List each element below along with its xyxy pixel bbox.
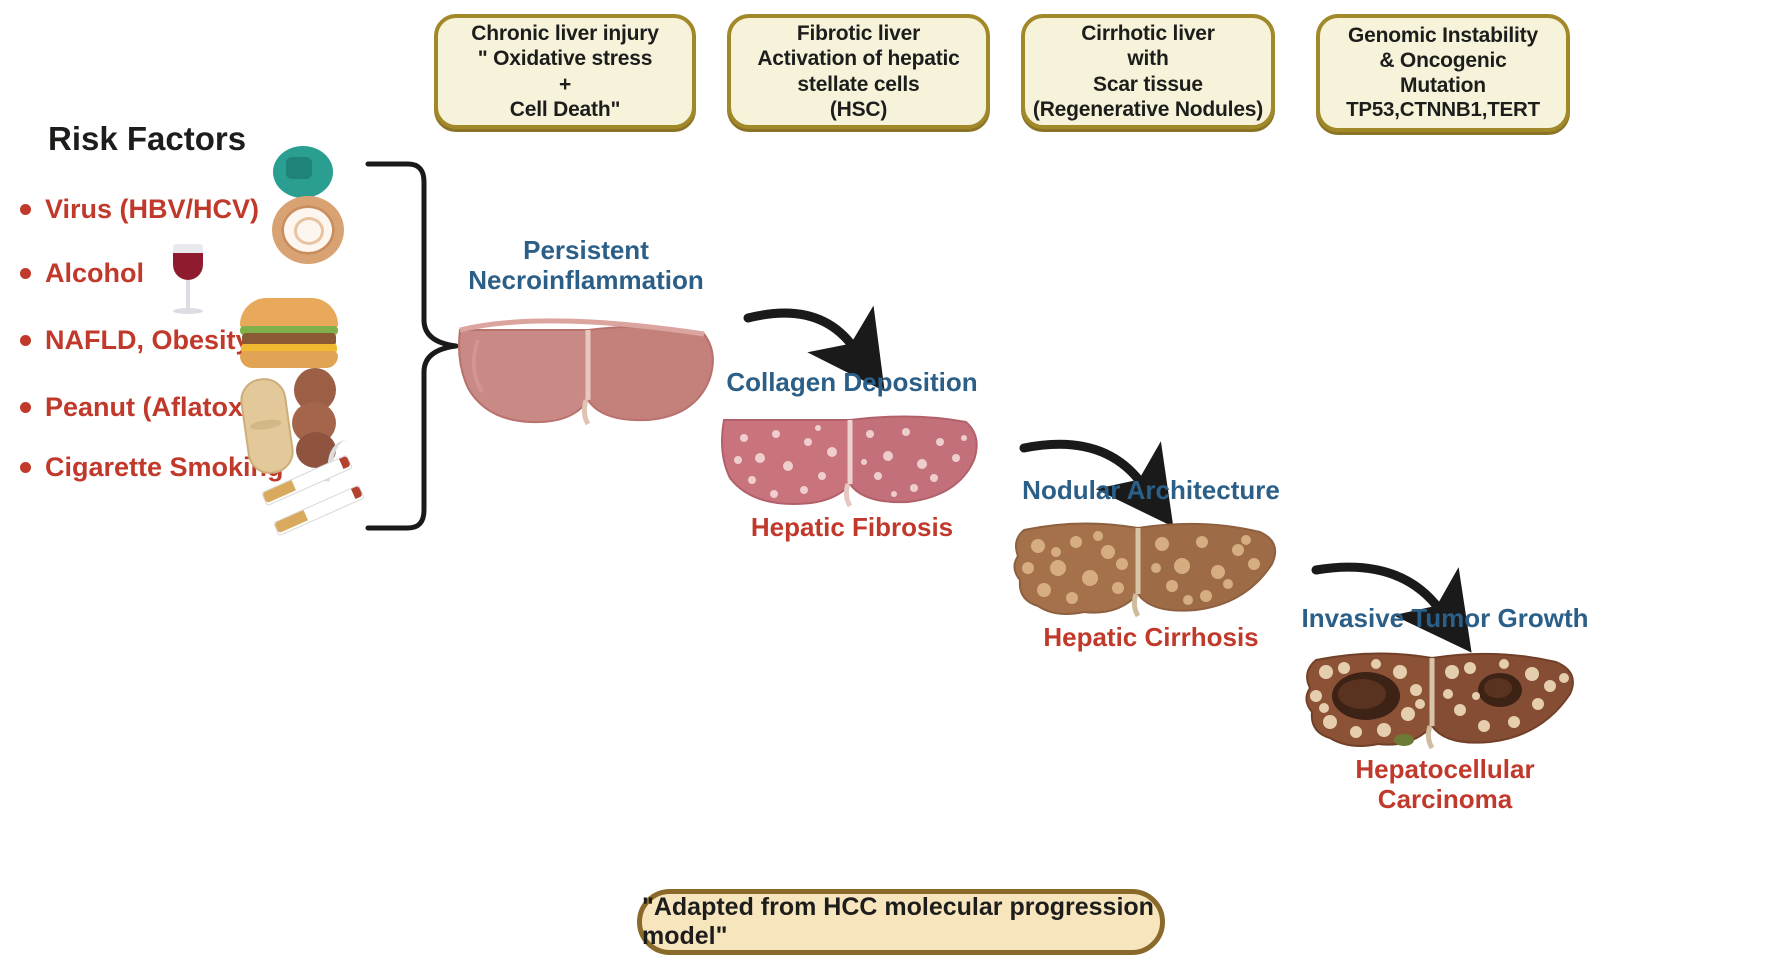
box2-line-2: Activation of hepatic xyxy=(757,46,959,71)
bullet-icon xyxy=(20,268,31,279)
box1-line-3: + xyxy=(471,72,658,97)
stage4-top-label: Invasive Tumor Growth xyxy=(1300,604,1590,634)
box2-line-4: (HSC) xyxy=(757,97,959,122)
stage-box-chronic-liver-injury: Chronic liver injury " Oxidative stress … xyxy=(434,14,696,129)
grouping-brace xyxy=(362,160,462,532)
risk-factors-title: Risk Factors xyxy=(48,120,246,158)
box4-line-4: TP53,CTNNB1,TERT xyxy=(1346,98,1540,123)
tumor-liver-icon xyxy=(1300,634,1590,750)
risk-factor-item-virus: Virus (HBV/HCV) xyxy=(20,194,259,225)
box4-line-1: Genomic Instability xyxy=(1346,23,1540,48)
cirrhotic-liver-icon xyxy=(1010,506,1292,618)
risk-factor-item-nafld-obesity: NAFLD, Obesity xyxy=(20,325,251,356)
box2-line-1: Fibrotic liver xyxy=(757,21,959,46)
bullet-icon xyxy=(20,462,31,473)
box4-line-3: Mutation xyxy=(1346,73,1540,98)
stage-group-persistent-necroinflammation: Persistent Necroinflammation xyxy=(452,236,720,431)
risk-factor-label: NAFLD, Obesity xyxy=(45,325,251,356)
box2-line-3: stellate cells xyxy=(757,72,959,97)
stage-box-genomic-instability: Genomic Instability & Oncogenic Mutation… xyxy=(1316,14,1570,132)
bullet-icon xyxy=(20,204,31,215)
stage-group-hepatic-cirrhosis: Nodular Architecture Hepatic Cirrhosis xyxy=(1010,476,1292,653)
adapted-from-banner: "Adapted from HCC molecular progression … xyxy=(637,889,1165,955)
box1-line-2: " Oxidative stress xyxy=(471,46,658,71)
bullet-icon xyxy=(20,402,31,413)
risk-factor-item-alcohol: Alcohol xyxy=(20,258,144,289)
hcv-virus-icon xyxy=(264,192,336,252)
box3-line-4: (Regenerative Nodules) xyxy=(1033,97,1263,122)
stage-group-hepatocellular-carcinoma: Invasive Tumor Growth Hepatoce xyxy=(1300,604,1590,815)
stage2-bottom-label: Hepatic Fibrosis xyxy=(718,513,986,543)
bullet-icon xyxy=(20,335,31,346)
stage-box-fibrotic-liver: Fibrotic liver Activation of hepatic ste… xyxy=(727,14,990,129)
box3-line-3: Scar tissue xyxy=(1033,72,1263,97)
fibrotic-liver-icon xyxy=(718,398,986,508)
box4-line-2: & Oncogenic xyxy=(1346,48,1540,73)
stage-group-hepatic-fibrosis: Collagen Deposition Hepatic Fibrosis xyxy=(718,368,986,543)
stage2-top-label: Collagen Deposition xyxy=(718,368,986,398)
hbv-virus-icon xyxy=(264,140,334,196)
burger-icon xyxy=(240,298,338,368)
risk-factor-label: Virus (HBV/HCV) xyxy=(45,194,259,225)
box1-line-4: Cell Death" xyxy=(471,97,658,122)
diagram-canvas: Chronic liver injury " Oxidative stress … xyxy=(0,0,1772,980)
stage3-top-label: Nodular Architecture xyxy=(1010,476,1292,506)
stage1-top-label: Persistent Necroinflammation xyxy=(452,236,720,296)
wine-glass-icon xyxy=(165,244,211,322)
stage3-bottom-label: Hepatic Cirrhosis xyxy=(1010,623,1292,653)
stage-box-cirrhotic-liver: Cirrhotic liver with Scar tissue (Regene… xyxy=(1021,14,1275,129)
arrow-stage1-to-stage2 xyxy=(748,313,854,348)
stage4-bottom-label: Hepatocellular Carcinoma xyxy=(1300,755,1590,815)
box3-line-1: Cirrhotic liver xyxy=(1033,21,1263,46)
risk-factor-label: Alcohol xyxy=(45,258,144,289)
healthy-liver-icon xyxy=(452,296,720,426)
box3-line-2: with xyxy=(1033,46,1263,71)
box1-line-1: Chronic liver injury xyxy=(471,21,658,46)
